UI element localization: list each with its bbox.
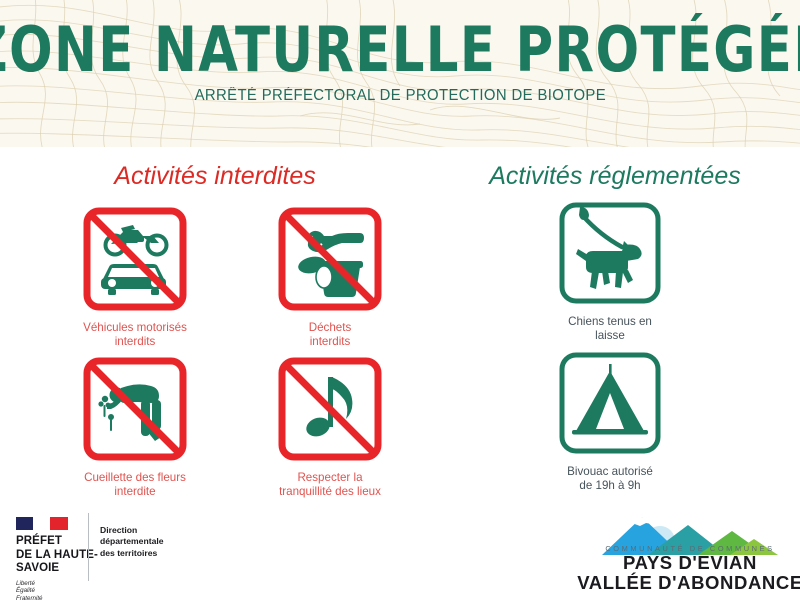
community-overline: COMMUNAUTÉ DE COMMUNES	[605, 544, 774, 553]
pictogram-no-noise: Respecter la tranquillité des lieux	[240, 355, 420, 498]
prefecture-name: PRÉFET DE LA HAUTE- SAVOIE	[16, 535, 102, 576]
pictogram-no-motor-vehicles: Véhicules motorisés interdits	[45, 205, 225, 348]
pictogram-caption: Bivouac autorisé de 19h à 9h	[567, 465, 653, 492]
no-noise-music-note-icon	[276, 355, 384, 463]
pictogram-caption: Chiens tenus en laisse	[568, 315, 652, 342]
poster-header: ZONE NATURELLE PROTÉGÉE ARRÊTÉ PRÉFECTOR…	[0, 0, 800, 147]
poster-footer: PRÉFET DE LA HAUTE- SAVOIE Liberté Égali…	[0, 505, 800, 600]
pictogram-bivouac: Bivouac autorisé de 19h à 9h	[520, 349, 700, 492]
section-heading-regulated: Activités réglementées	[430, 162, 800, 191]
pictogram-dog-on-leash: Chiens tenus en laisse	[520, 199, 700, 342]
republic-motto: Liberté Égalité Fraternité	[16, 580, 102, 602]
community-name-line2: VALLÉE D'ABONDANCE	[577, 573, 800, 593]
page-title: ZONE NATURELLE PROTÉGÉE	[0, 17, 800, 83]
pictogram-no-flower-picking: Cueillette des fleurs interdite	[45, 355, 225, 498]
page-subtitle: ARRÊTÉ PRÉFECTORAL DE PROTECTION DE BIOT…	[194, 87, 605, 105]
department-service-name: Direction départementale des territoires	[100, 525, 164, 559]
pictogram-caption: Respecter la tranquillité des lieux	[279, 471, 381, 498]
pictogram-caption: Véhicules motorisés interdits	[83, 321, 187, 348]
footer-divider	[88, 513, 89, 581]
section-heading-forbidden: Activités interdites	[0, 162, 430, 191]
prefecture-logo: PRÉFET DE LA HAUTE- SAVOIE Liberté Égali…	[16, 517, 102, 602]
pictogram-caption: Déchets interdits	[309, 321, 352, 348]
tent-bivouac-icon	[556, 349, 664, 457]
french-flag-icon	[16, 517, 68, 530]
poster-body: Activités interdites Activités réglement…	[0, 147, 800, 505]
community-name-line1: PAYS D'ÉVIAN	[623, 553, 757, 573]
no-flower-picking-icon	[81, 355, 189, 463]
pictogram-caption: Cueillette des fleurs interdite	[84, 471, 186, 498]
no-littering-icon	[276, 205, 384, 313]
pictogram-no-littering: Déchets interdits	[240, 205, 420, 348]
community-of-communes-logo: COMMUNAUTÉ DE COMMUNES PAYS D'ÉVIAN VALL…	[592, 511, 788, 593]
no-motor-vehicles-icon	[81, 205, 189, 313]
dog-on-leash-icon	[556, 199, 664, 307]
